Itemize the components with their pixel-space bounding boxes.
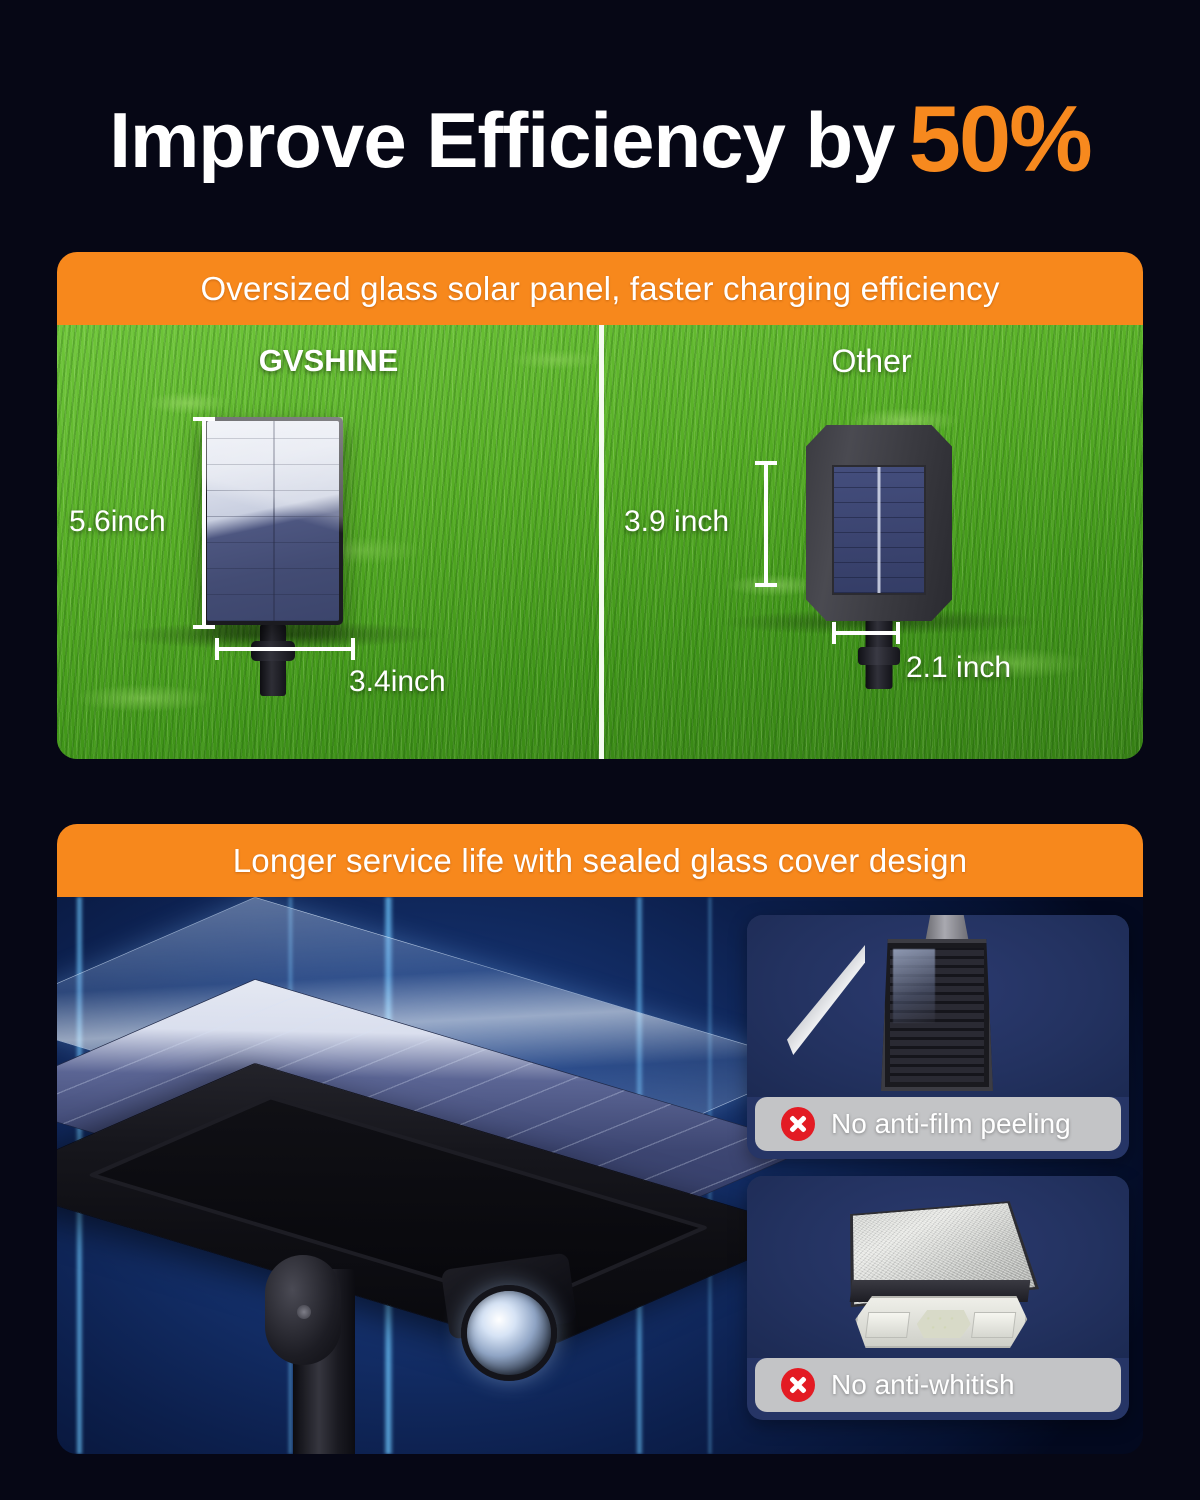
photo-led-bar	[865, 1312, 910, 1338]
brand-label-other: Other	[600, 343, 1143, 380]
photo-panel-frame	[881, 939, 993, 1091]
photo-led-bar	[971, 1312, 1016, 1338]
card-anti-whitish: No anti-whitish	[747, 1176, 1129, 1420]
comparison-half-gvshine: GVSHINE 5.6inch 3.4inch	[57, 325, 600, 759]
comparison-divider	[599, 325, 604, 759]
adjustable-hinge	[265, 1255, 341, 1365]
section-sealed-glass: Longer service life with sealed glass co…	[57, 824, 1143, 1454]
dimension-height-other: 3.9 inch	[624, 505, 729, 539]
card-label-anti-film-peeling: No anti-film peeling	[755, 1097, 1121, 1151]
exploded-lamp-illustration	[97, 939, 757, 1439]
card-anti-film-peeling: No anti-film peeling	[747, 915, 1129, 1159]
x-mark-icon	[781, 1368, 815, 1402]
brand-label-gvshine: GVSHINE	[57, 343, 600, 379]
product-gvshine	[203, 417, 343, 625]
comparison-grass-area: GVSHINE 5.6inch 3.4inch	[57, 325, 1143, 759]
dimension-line-height-gvshine	[202, 417, 206, 629]
photo-lamp-stalk	[925, 915, 969, 943]
banner-oversized-panel-text: Oversized glass solar panel, faster char…	[200, 270, 999, 308]
solar-panel-gvshine	[203, 417, 343, 625]
hinge-screw-icon	[297, 1305, 311, 1319]
dimension-line-height-other	[764, 461, 768, 587]
lamp-housing-other	[806, 425, 952, 621]
infographic-page: Improve Efficiency by50% Oversized glass…	[0, 0, 1200, 1500]
dimension-line-width-other	[832, 631, 900, 635]
dimension-width-other: 2.1 inch	[906, 651, 1011, 685]
dimension-line-width-gvshine	[215, 647, 355, 651]
banner-sealed-glass: Longer service life with sealed glass co…	[57, 824, 1143, 897]
photo-peeling-film-sheet	[787, 945, 865, 1055]
sealed-glass-showcase: No anti-film peeling	[57, 897, 1143, 1454]
photo-peeling-film	[747, 915, 1129, 1097]
section-panel-comparison: Oversized glass solar panel, faster char…	[57, 252, 1143, 759]
page-title-main: Improve Efficiency by	[109, 96, 894, 184]
banner-sealed-glass-text: Longer service life with sealed glass co…	[233, 842, 968, 880]
drawback-cards: No anti-film peeling	[747, 915, 1129, 1420]
product-other	[806, 425, 952, 621]
solar-cells-other	[832, 465, 926, 595]
dimension-height-gvshine: 5.6inch	[69, 505, 166, 539]
photo-panel-reflection	[893, 949, 935, 1023]
stake-collar-gvshine	[251, 641, 295, 661]
card-label-text: No anti-film peeling	[831, 1108, 1071, 1140]
stake-collar-other	[858, 647, 900, 665]
photo-lamp-led-face	[852, 1296, 1030, 1348]
solar-cells-gvshine	[207, 421, 339, 621]
card-label-text: No anti-whitish	[831, 1369, 1015, 1401]
banner-oversized-panel: Oversized glass solar panel, faster char…	[57, 252, 1143, 325]
photo-led-cluster	[915, 1310, 972, 1338]
page-title-accent: 50%	[909, 86, 1091, 191]
dimension-width-gvshine: 3.4inch	[349, 665, 446, 699]
photo-whitish-panel	[747, 1176, 1129, 1358]
x-mark-icon	[781, 1107, 815, 1141]
card-label-anti-whitish: No anti-whitish	[755, 1358, 1121, 1412]
page-title: Improve Efficiency by50%	[0, 92, 1200, 186]
led-lens	[461, 1285, 557, 1381]
comparison-half-other: Other 3.9 inch 2.1 inch	[600, 325, 1143, 759]
